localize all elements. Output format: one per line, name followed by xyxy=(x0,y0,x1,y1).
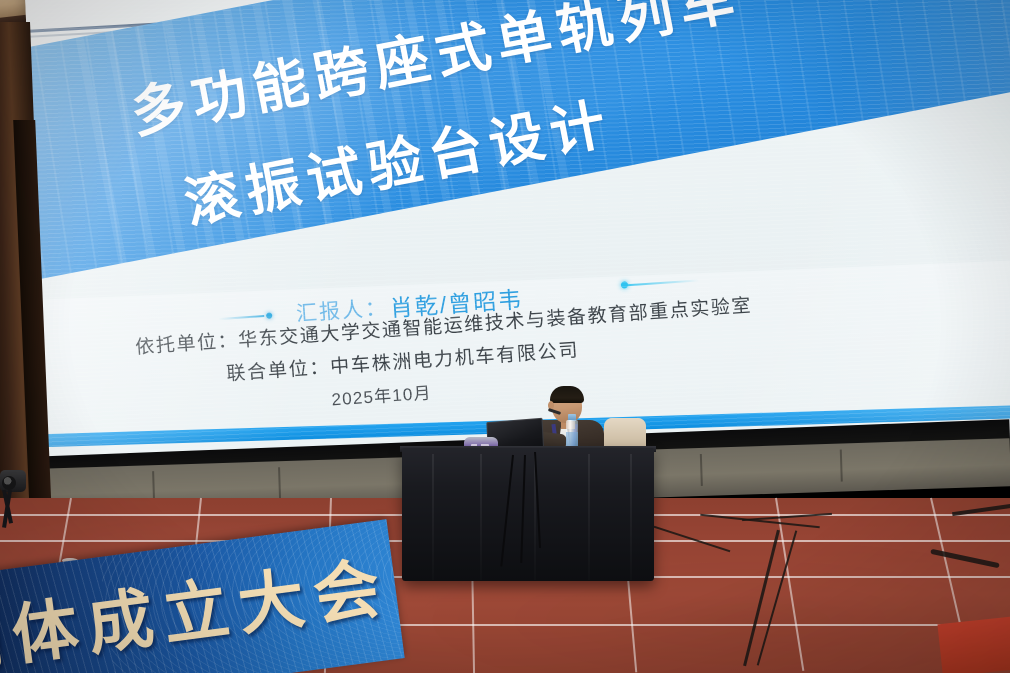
speaker-table xyxy=(402,448,654,581)
decorative-dash-left-icon xyxy=(218,309,279,323)
floor-red-mat xyxy=(937,616,1010,673)
projection-screen: EAST C 多功能跨座式单轨列车 滚振试验台设计 汇报人： 肖乾/曾昭韦 依托… xyxy=(24,0,1010,490)
presentation-photo-scene: EAST C 多功能跨座式单轨列车 滚振试验台设计 汇报人： 肖乾/曾昭韦 依托… xyxy=(0,0,1010,673)
decorative-dot-right-icon xyxy=(621,274,701,289)
presenter-hair xyxy=(550,386,584,403)
water-bottle-label xyxy=(566,432,578,446)
camera-lens-icon xyxy=(2,476,16,490)
